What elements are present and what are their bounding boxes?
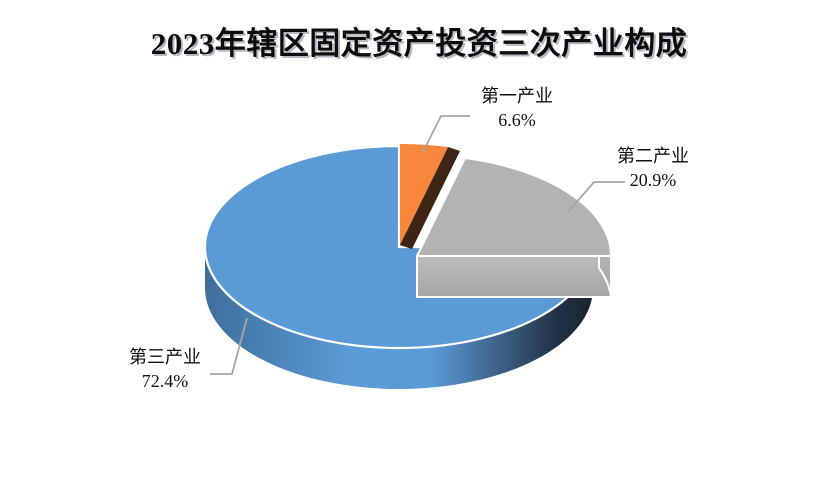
data-label-secondary-value: 20.9% bbox=[588, 168, 718, 192]
data-label-tertiary-name: 第三产业 bbox=[100, 345, 230, 369]
data-label-primary: 第一产业 6.6% bbox=[452, 84, 582, 132]
data-label-primary-value: 6.6% bbox=[452, 108, 582, 132]
pie-chart-graphic bbox=[0, 0, 838, 485]
slice-secondary-side bbox=[417, 256, 611, 297]
chart-canvas: 2023年辖区固定资产投资三次产业构成 bbox=[0, 0, 838, 485]
data-label-secondary-name: 第二产业 bbox=[588, 144, 718, 168]
data-label-tertiary: 第三产业 72.4% bbox=[100, 345, 230, 393]
data-label-secondary: 第二产业 20.9% bbox=[588, 144, 718, 192]
data-label-primary-name: 第一产业 bbox=[452, 84, 582, 108]
data-label-tertiary-value: 72.4% bbox=[100, 369, 230, 393]
